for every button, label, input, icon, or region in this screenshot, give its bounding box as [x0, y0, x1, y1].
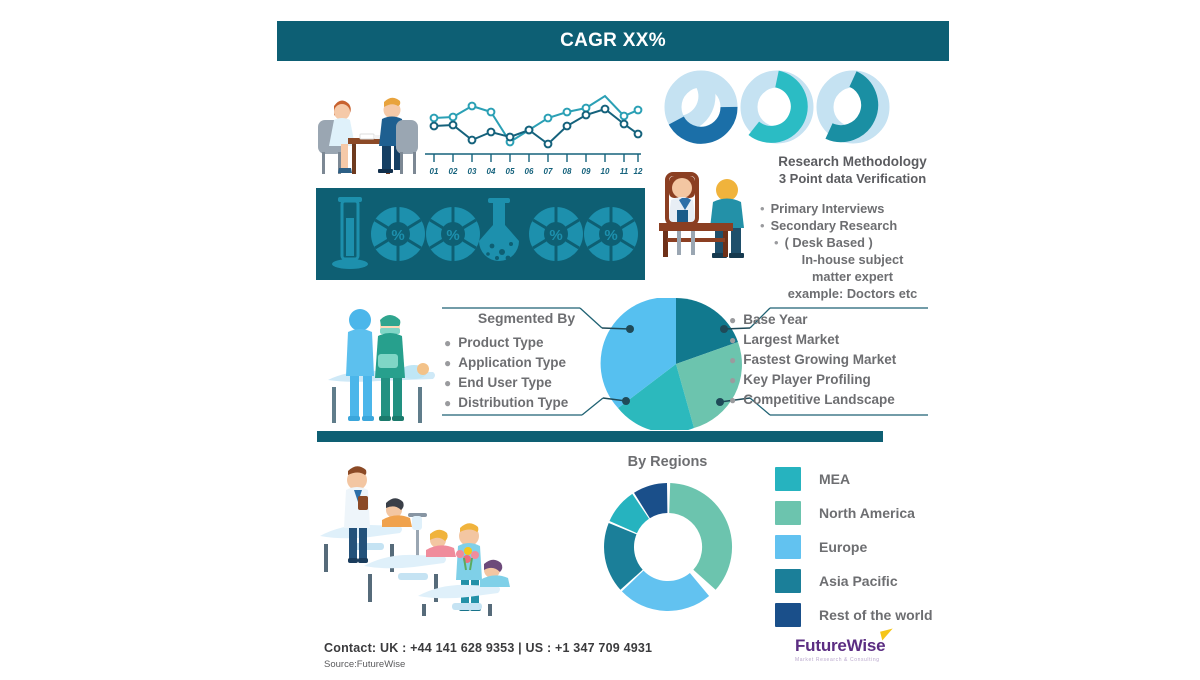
arrow-icon [880, 629, 895, 641]
page-title: CAGR XX% [560, 30, 666, 52]
regions-donut-chart [598, 477, 738, 617]
xtick-06: 06 [525, 167, 534, 176]
list-item: • Primary Interviews [760, 200, 945, 217]
bullet-label: ( Desk Based ) [785, 234, 873, 251]
extra-line: In-house subject [760, 251, 945, 268]
extra-line: matter expert [760, 268, 945, 285]
bullet-icon: ● [444, 333, 451, 353]
xtick-04: 04 [487, 167, 496, 176]
test-tube-icon [332, 197, 368, 269]
bullet-icon: • [774, 234, 779, 251]
bullet-icon: ● [729, 310, 736, 330]
list-item: ● Distribution Type [444, 393, 609, 413]
icon-banner: % % [316, 188, 645, 280]
legend-label: Asia Pacific [819, 573, 898, 589]
legend-label: Rest of the world [819, 607, 933, 623]
percent-label: % [446, 227, 459, 244]
list-item: ● Fastest Growing Market [729, 350, 924, 370]
donut-2 [749, 79, 805, 135]
bullet-icon: ● [729, 350, 736, 370]
legend-item-asia-pacific: Asia Pacific [775, 564, 933, 598]
logo-text: FutureWise [795, 636, 885, 656]
icon-banner-icons: % % [316, 188, 645, 280]
bullet-label: Primary Interviews [771, 200, 885, 217]
insight-label: Competitive Landscape [743, 390, 895, 410]
percent-label: % [391, 227, 404, 244]
research-methodology-list: • Primary Interviews • Secondary Researc… [760, 200, 945, 302]
percent-label: % [549, 227, 562, 244]
xtick-02: 02 [449, 167, 458, 176]
percent-donut-icon: % [584, 207, 638, 261]
insight-label: Fastest Growing Market [743, 350, 896, 370]
surgical-team-illustration [318, 298, 442, 428]
xtick-07: 07 [544, 167, 553, 176]
percent-donut-icon: % [426, 207, 480, 261]
segment-label: End User Type [458, 373, 552, 393]
list-item: ● Largest Market [729, 330, 924, 350]
xtick-10: 10 [601, 167, 610, 176]
xtick-09: 09 [582, 167, 591, 176]
legend-label: Europe [819, 539, 867, 555]
regions-legend: MEA North America Europe Asia Pacific Re… [775, 462, 933, 632]
percent-donut-icon: % [529, 207, 583, 261]
xtick-11: 11 [620, 167, 629, 176]
interview-illustration [312, 86, 418, 182]
segment-label: Application Type [458, 353, 566, 373]
bullet-label: Secondary Research [771, 217, 898, 234]
xtick-05: 05 [506, 167, 515, 176]
line-chart: 01 02 03 04 05 06 07 08 09 10 11 12 [420, 92, 645, 182]
list-item: ● Application Type [444, 353, 609, 373]
xtick-08: 08 [563, 167, 572, 176]
insight-label: Key Player Profiling [743, 370, 871, 390]
section-divider [317, 431, 883, 442]
legend-item-north-america: North America [775, 496, 933, 530]
flask-icon [479, 198, 519, 261]
list-item: ● Key Player Profiling [729, 370, 924, 390]
segment-label: Product Type [458, 333, 543, 353]
research-methodology-heading: Research Methodology [760, 153, 945, 170]
hospital-beds-illustration [312, 458, 527, 618]
list-item: • ( Desk Based ) [760, 234, 945, 251]
xtick-03: 03 [468, 167, 477, 176]
donut-1 [673, 79, 729, 135]
top-donut-group [664, 70, 890, 144]
bullet-icon: ● [444, 393, 451, 413]
legend-item-rest-of-world: Rest of the world [775, 598, 933, 632]
legend-swatch [775, 467, 801, 491]
header-bar: CAGR XX% [277, 21, 949, 61]
list-item: ● Competitive Landscape [729, 390, 924, 410]
list-item: • Secondary Research [760, 217, 945, 234]
insight-label: Largest Market [743, 330, 839, 350]
research-methodology-block: Research Methodology 3 Point data Verifi… [760, 153, 945, 302]
futurewise-logo: FutureWise Market Research & Consulting [795, 636, 885, 663]
logo-tagline: Market Research & Consulting [795, 657, 885, 663]
xtick-01: 01 [430, 167, 439, 176]
regions-title: By Regions [600, 454, 735, 470]
segmented-by-block: Segmented By ● Product Type ● Applicatio… [444, 310, 609, 413]
percent-label: % [604, 227, 617, 244]
legend-label: MEA [819, 471, 850, 487]
donut-slice-north-america [669, 483, 732, 590]
legend-swatch [775, 603, 801, 627]
xtick-12: 12 [634, 167, 643, 176]
segment-pie [601, 298, 742, 430]
list-item: ● Base Year [729, 310, 924, 330]
market-insights-block: ● Base Year ● Largest Market ● Fastest G… [729, 310, 924, 410]
legend-label: North America [819, 505, 915, 521]
legend-swatch [775, 569, 801, 593]
bullet-icon: ● [444, 353, 451, 373]
bullet-icon: ● [444, 373, 451, 393]
legend-swatch [775, 501, 801, 525]
insight-label: Base Year [743, 310, 807, 330]
analysts-at-desk-illustration [655, 160, 765, 278]
source-note: Source:FutureWise [324, 659, 405, 670]
bullet-icon: ● [729, 330, 736, 350]
donut-3 [825, 79, 881, 135]
bullet-icon: ● [729, 370, 736, 390]
percent-donut-icon: % [371, 207, 425, 261]
infographic-page: CAGR XX% [0, 0, 1200, 680]
legend-item-mea: MEA [775, 462, 933, 496]
legend-swatch [775, 535, 801, 559]
list-item: ● Product Type [444, 333, 609, 353]
segmented-by-heading: Segmented By [444, 310, 609, 326]
segment-label: Distribution Type [458, 393, 568, 413]
research-methodology-subheading: 3 Point data Verification [760, 170, 945, 187]
list-item: ● End User Type [444, 373, 609, 393]
contact-info: Contact: UK : +44 141 628 9353 | US : +1… [324, 641, 652, 655]
legend-item-europe: Europe [775, 530, 933, 564]
bullet-icon: ● [729, 390, 736, 410]
